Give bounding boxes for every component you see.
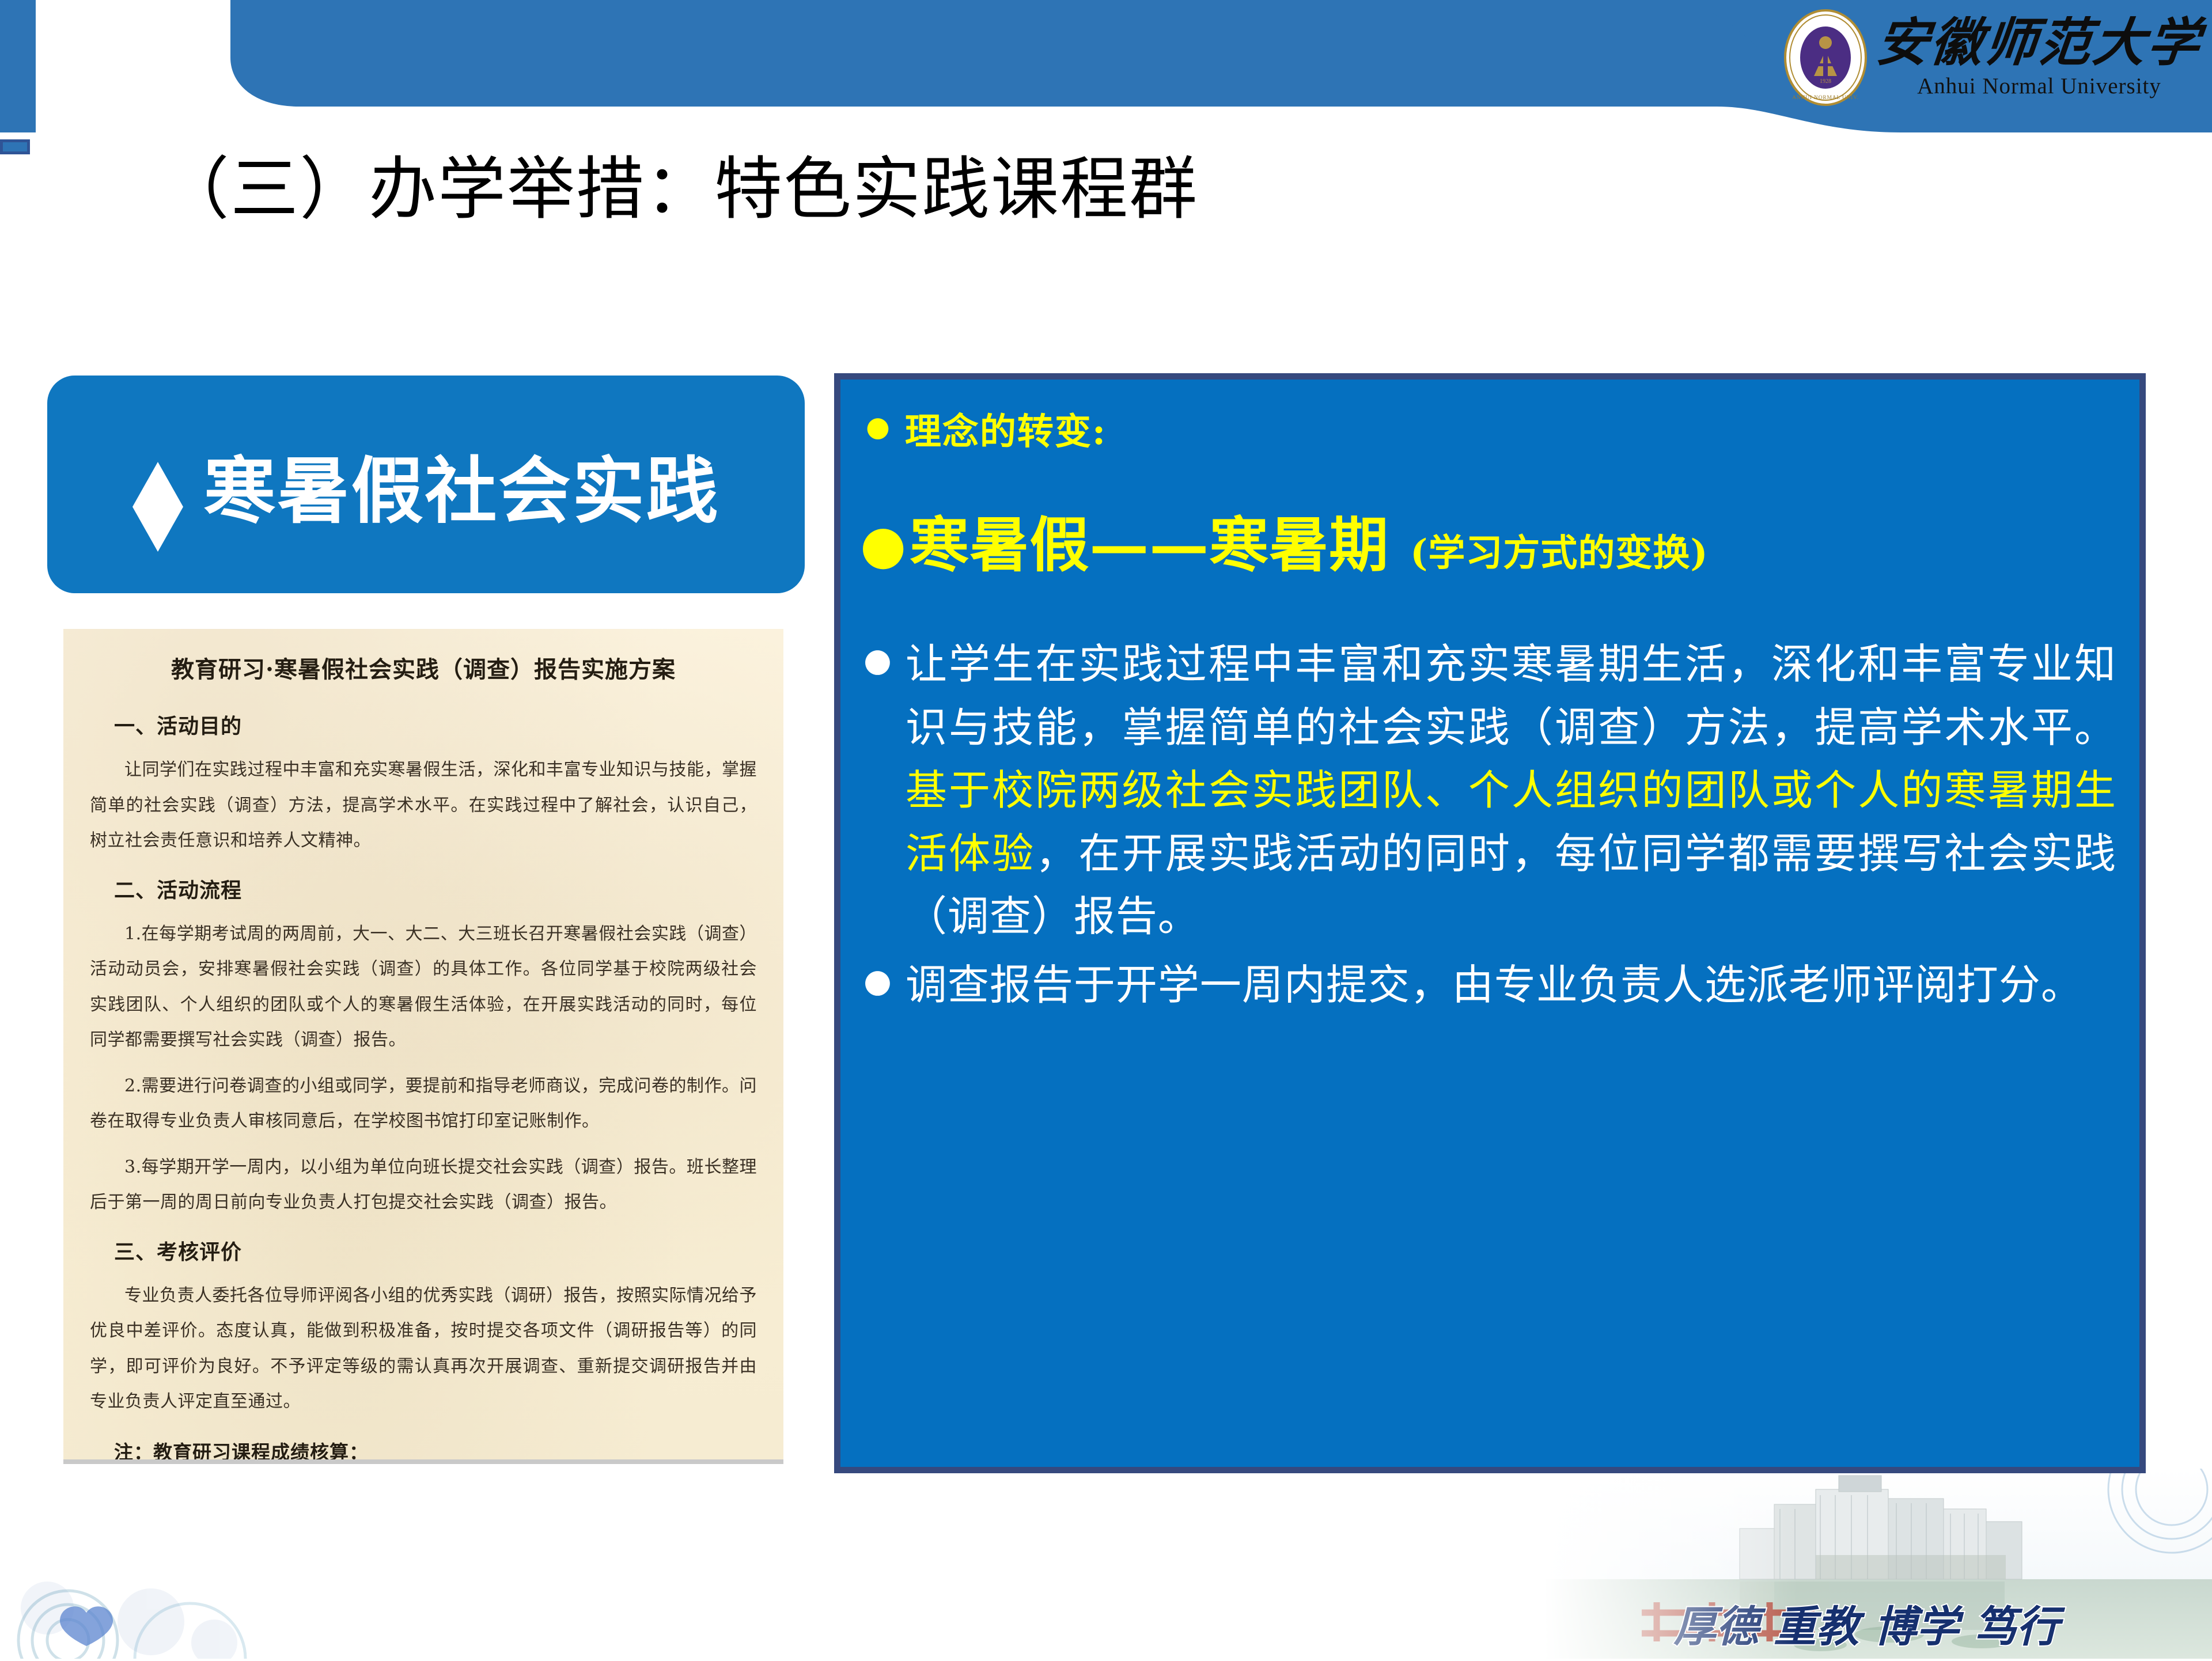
diamond-icon [132, 462, 183, 507]
bullet-part: 让学生在实践过程中丰富和充实寒暑期生活，深化和丰富专业知识与技能，掌握简单的社会… [906, 640, 2116, 751]
doc-body-2-item-3: 3.每学期开学一周内，以小组为单位向班长提交社会实践（调查）报告。班长整理后于第… [90, 1150, 757, 1220]
doc-heading-1: 一、活动目的 [114, 710, 757, 740]
bullet-text: 让学生在实践过程中丰富和充实寒暑期生活，深化和丰富专业知识与技能，掌握简单的社会… [906, 633, 2116, 948]
doc-body-1: 让同学们在实践过程中丰富和充实寒暑假生活，深化和丰富专业知识与技能，掌握简单的社… [90, 752, 757, 859]
corner-decoration [0, 1486, 369, 1659]
doc-body-3: 专业负责人委托各位导师评阅各小组的优秀实践（调研）报告，按照实际情况给予优良中差… [90, 1278, 757, 1420]
dot-icon: ● [863, 965, 892, 998]
dot-icon: ● [860, 518, 906, 571]
headline-main: 寒暑假——寒暑期 [910, 510, 1389, 580]
page-title: （三）办学举措：特色实践课程群 [161, 134, 1198, 232]
section-chip-label: 寒暑假社会实践 [204, 433, 720, 537]
document-scan-image: 教育研习·寒暑假社会实践（调查）报告实施方案 一、活动目的 让同学们在实践过程中… [63, 629, 783, 1464]
left-accent-tab [0, 139, 30, 154]
logo-en-name: Anhui Normal University [1917, 73, 2161, 99]
doc-body-2-item-1: 1.在每学期考试周的两周前，大一、大二、大三班长召开寒暑假社会实践（调查）活动动… [90, 916, 757, 1058]
logo-cn-name: 安徽师范大学 [1874, 17, 2204, 69]
doc-heading-2: 二、活动流程 [114, 874, 757, 904]
bullet-item: ● 调查报告于开学一周内提交，由专业负责人选派老师评阅打分。 [860, 954, 2116, 1017]
doc-body-2-item-2: 2.需要进行问卷调查的小组或同学，要提前和指导老师商议，完成问卷的制作。问卷在取… [90, 1068, 757, 1139]
bullet-item: ● 让学生在实践过程中丰富和充实寒暑期生活，深化和丰富专业知识与技能，掌握简单的… [860, 633, 2116, 948]
university-logo: 1928 ANHUI NORMAL UNIV. 安徽师范大学 Anhui Nor… [1782, 8, 2202, 107]
left-accent-bar [0, 0, 36, 132]
doc-title: 教育研习·寒暑假社会实践（调查）报告实施方案 [90, 651, 757, 684]
doc-note: 注：教育研习课程成绩核算： [114, 1437, 757, 1465]
svg-text:ANHUI NORMAL UNIV.: ANHUI NORMAL UNIV. [1792, 95, 1858, 101]
dot-icon: ● [863, 644, 892, 677]
content-panel: ● 理念的转变: ● 寒暑假——寒暑期 (学习方式的变换) ● 让学生在实践过程… [834, 373, 2146, 1473]
section-chip[interactable]: 寒暑假社会实践 [47, 376, 805, 593]
doc-heading-3: 三、考核评价 [114, 1235, 757, 1265]
campus-photo: 厚德 重教 博学 笃行 [1544, 1469, 2212, 1659]
bullet-text: 调查报告于开学一周内提交，由专业负责人选派老师评阅打分。 [906, 954, 2083, 1017]
headline-text: 寒暑假——寒暑期 (学习方式的变换) [910, 513, 1708, 578]
headline-sub: (学习方式的变换) [1410, 532, 1709, 575]
university-seal-icon: 1928 ANHUI NORMAL UNIV. [1782, 8, 1869, 107]
headline-row: ● 寒暑假——寒暑期 (学习方式的变换) [860, 513, 2116, 578]
lead-row: ● 理念的转变: [860, 403, 2116, 455]
svg-text:1928: 1928 [1820, 78, 1831, 85]
bullet-part: ，在开展实践活动的同时，每位同学都需要撰写社会实践（调查）报告。 [906, 829, 2116, 941]
lead-line-text: 理念的转变: [905, 403, 1107, 455]
bullet-list: ● 让学生在实践过程中丰富和充实寒暑期生活，深化和丰富专业知识与技能，掌握简单的… [860, 633, 2116, 1017]
dot-icon: ● [866, 413, 890, 441]
